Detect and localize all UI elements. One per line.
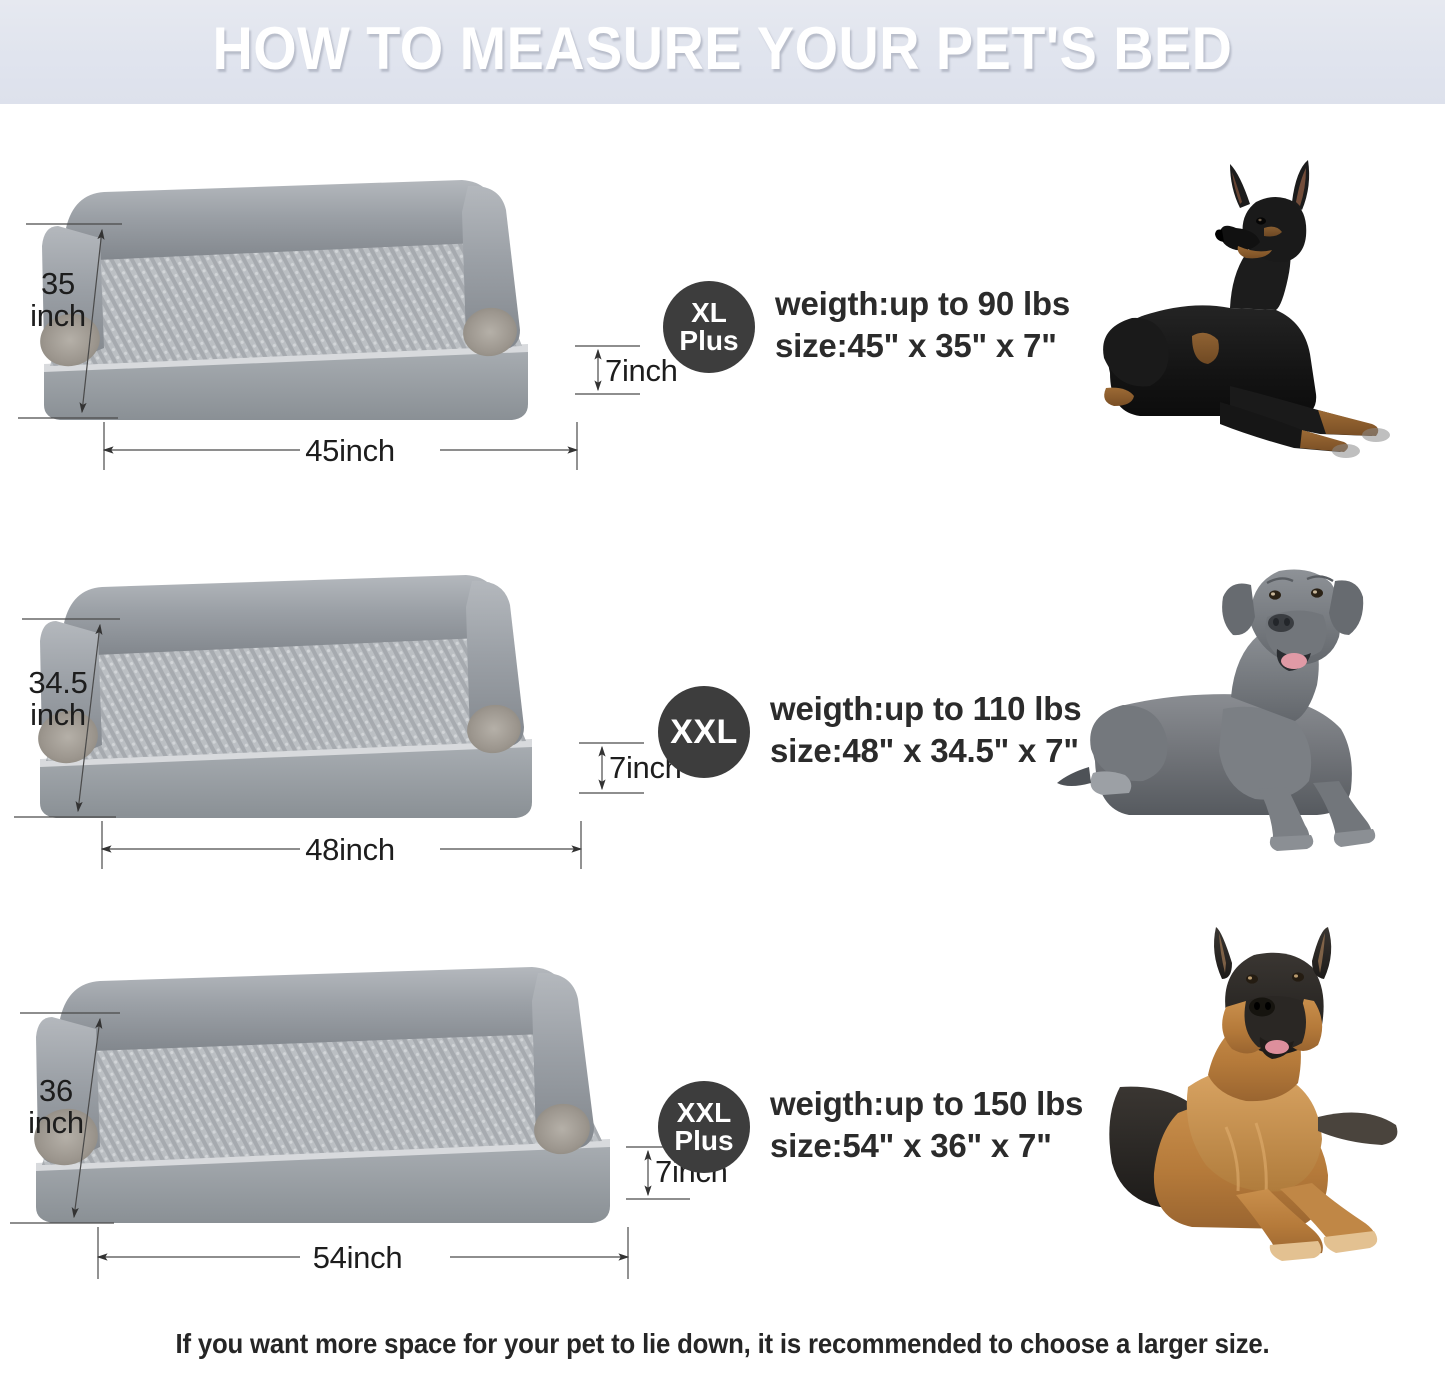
- size-text-1: size:48" x 34.5" x 7": [770, 730, 1081, 772]
- size-badge-1: XXL: [658, 686, 750, 778]
- depth-label-1: 34.5 inch: [4, 667, 112, 730]
- size-row-xxl: 34.5 inch 48inch 7inch XXL weigth:up to …: [0, 545, 1445, 935]
- dog-photo-great-dane: [1055, 545, 1440, 865]
- size-text-2: size:54" x 36" x 7": [770, 1125, 1083, 1167]
- weight-text-1: weigth:up to 110 lbs: [770, 688, 1081, 730]
- height-label-0: 7inch: [605, 355, 678, 387]
- size-row-xl-plus: 35 inch 45inch 7inch XL Plus weigth:up t…: [0, 150, 1445, 540]
- width-label-0: 45inch: [260, 435, 440, 467]
- page-title: HOW TO MEASURE YOUR PET'S BED: [51, 14, 1395, 83]
- width-label-2: 54inch: [265, 1242, 450, 1274]
- size-spec-1: weigth:up to 110 lbs size:48" x 34.5" x …: [770, 688, 1081, 772]
- size-row-xxl-plus: 36 inch 54inch 7inch XXL Plus weigth:up …: [0, 935, 1445, 1325]
- width-label-1: 48inch: [260, 834, 440, 866]
- depth-label-0: 35 inch: [10, 268, 106, 331]
- size-badge-0: XL Plus: [663, 281, 755, 373]
- depth-label-2: 36 inch: [4, 1075, 108, 1138]
- weight-text-2: weigth:up to 150 lbs: [770, 1083, 1083, 1125]
- dog-photo-german-shepherd: [1060, 927, 1445, 1272]
- size-badge-2: XXL Plus: [658, 1081, 750, 1173]
- size-text-0: size:45" x 35" x 7": [775, 325, 1070, 367]
- dog-photo-doberman: [1080, 158, 1440, 458]
- size-spec-0: weigth:up to 90 lbs size:45" x 35" x 7": [775, 283, 1070, 367]
- size-badge-line1-1: XXL: [670, 715, 738, 749]
- size-badge-line1-2: XXL: [677, 1099, 731, 1127]
- size-spec-2: weigth:up to 150 lbs size:54" x 36" x 7": [770, 1083, 1083, 1167]
- footer-note: If you want more space for your pet to l…: [58, 1328, 1387, 1360]
- size-badge-line2-0: Plus: [679, 327, 738, 355]
- size-badge-line2-2: Plus: [674, 1127, 733, 1155]
- weight-text-0: weigth:up to 90 lbs: [775, 283, 1070, 325]
- size-badge-line1-0: XL: [691, 299, 727, 327]
